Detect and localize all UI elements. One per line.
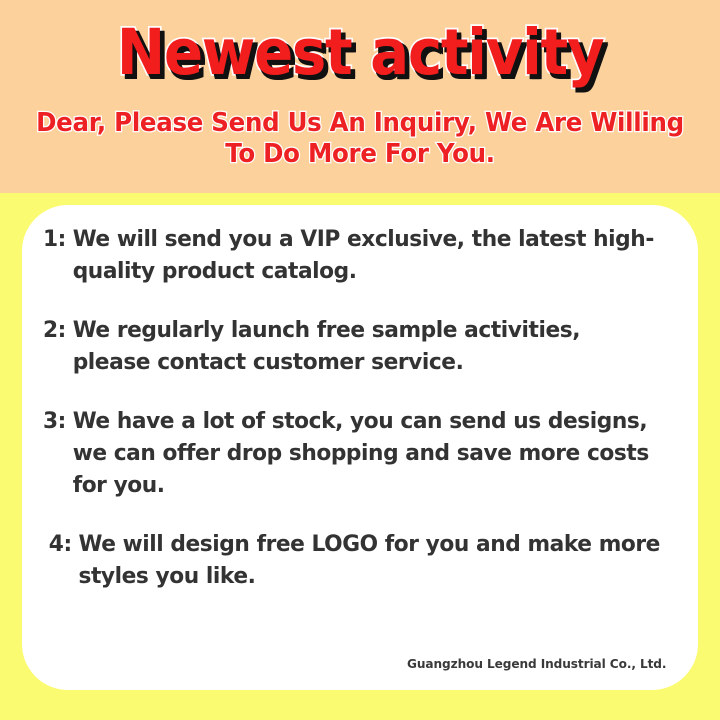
list-item: 3: We have a lot of stock, you can send … (43, 405, 661, 501)
list-item-number: 3: (43, 405, 66, 437)
list-item-number: 1: (43, 223, 66, 255)
list-item-text: We have a lot of stock, you can send us … (73, 405, 661, 501)
promotional-poster: Newest activity Dear, Please Send Us An … (0, 0, 720, 720)
list-item: 2: We regularly launch free sample activ… (43, 314, 661, 378)
list-item-text: We will design free LOGO for you and mak… (78, 528, 660, 592)
subtitle-line-2: To Do More For You. (32, 139, 689, 170)
header-banner: Newest activity Dear, Please Send Us An … (0, 0, 720, 193)
list-item-text: We will send you a VIP exclusive, the la… (73, 223, 661, 287)
subtitle-line-1: Dear, Please Send Us An Inquiry, We Are … (32, 108, 689, 139)
list-item-number: 4: (49, 528, 72, 560)
list-item: 1: We will send you a VIP exclusive, the… (43, 223, 661, 287)
poster-subtitle: Dear, Please Send Us An Inquiry, We Are … (32, 108, 689, 170)
list-item: 4: We will design free LOGO for you and … (43, 528, 661, 592)
page-title: Newest activity (29, 17, 691, 89)
benefits-list: 1: We will send you a VIP exclusive, the… (43, 223, 683, 619)
list-item-number: 2: (43, 314, 66, 346)
list-item-text: We regularly launch free sample activiti… (73, 314, 661, 378)
company-name: Guangzhou Legend Industrial Co., Ltd. (407, 656, 666, 672)
content-card: 1: We will send you a VIP exclusive, the… (22, 205, 698, 690)
